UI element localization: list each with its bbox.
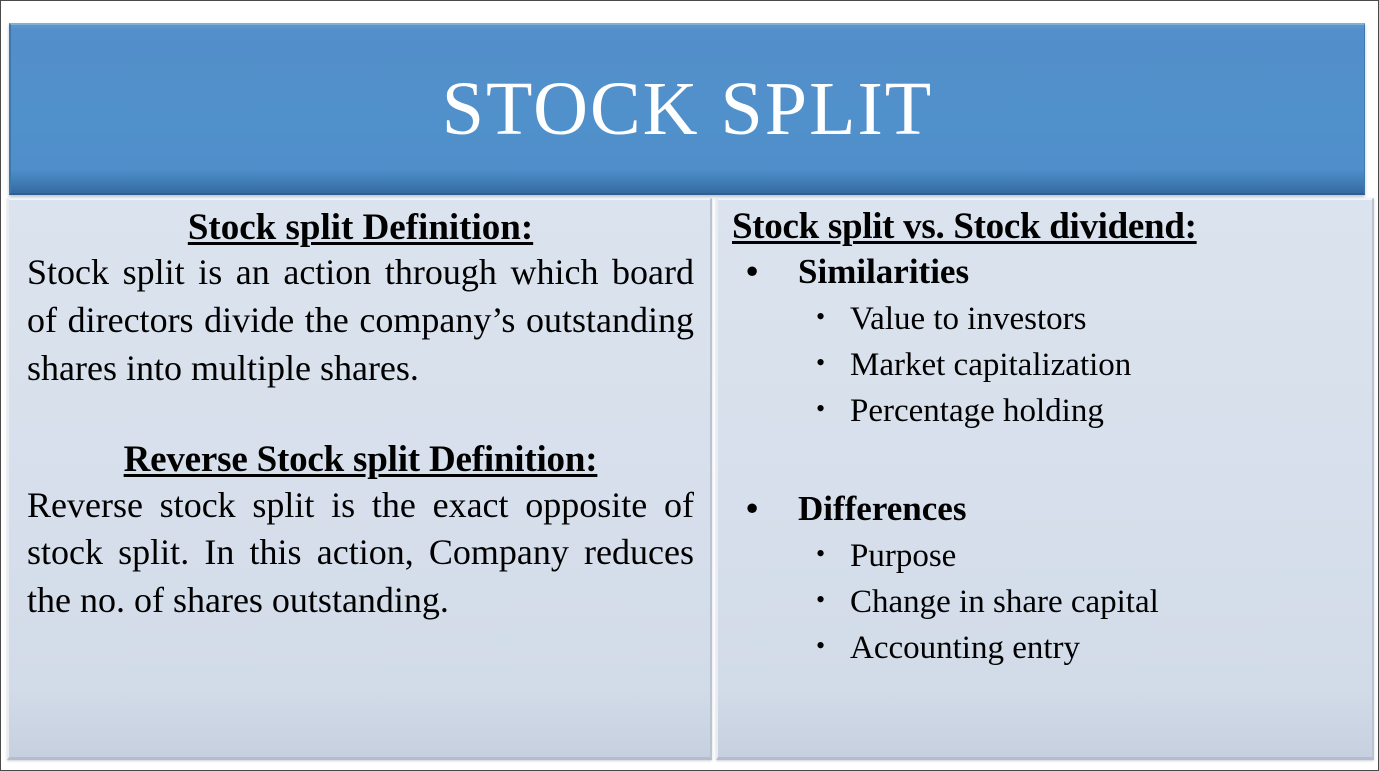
list-item-label: Percentage holding [850,393,1104,429]
bullet-icon: • [816,296,825,338]
slide-header-banner: STOCK SPLIT [9,23,1365,195]
differences-label: Differences [798,489,966,528]
left-content-panel: Stock split Definition: Stock split is a… [7,198,712,760]
right-group-spacer [726,434,1364,486]
bullet-icon: • [816,625,825,667]
list-item-similarities: • Similarities • Value to investors • Ma… [726,251,1364,434]
bullet-icon: • [816,388,825,430]
stock-split-definition-heading: Stock split Definition: [27,209,694,247]
list-item-label: Purpose [850,538,956,574]
similarities-sublist: • Value to investors • Market capitaliza… [798,296,1364,435]
list-item-differences: • Differences • Purpose • Change in shar… [726,488,1364,671]
comparison-list: • Similarities • Value to investors • Ma… [726,251,1364,672]
list-item-label: Value to investors [850,301,1086,337]
page-title: STOCK SPLIT [442,71,933,147]
list-item: • Purpose [798,533,1364,579]
left-section-spacer [27,393,694,441]
list-item: • Change in share capital [798,579,1364,625]
bullet-icon: • [816,579,825,621]
reverse-stock-split-definition-heading: Reverse Stock split Definition: [27,441,694,479]
slide-canvas: STOCK SPLIT Stock split Definition: Stoc… [0,0,1379,771]
bullet-icon: • [746,488,758,531]
bullet-icon: • [816,533,825,575]
similarities-label: Similarities [798,252,969,291]
list-item-label: Accounting entry [850,630,1080,666]
stock-split-definition-text: Stock split is an action through which b… [27,249,694,393]
right-content-panel: Stock split vs. Stock dividend: • Simila… [716,198,1374,760]
list-item: • Value to investors [798,296,1364,342]
bullet-icon: • [746,251,758,294]
list-item: • Percentage holding [798,388,1364,434]
reverse-stock-split-definition-text: Reverse stock split is the exact opposit… [27,482,694,626]
stock-split-vs-stock-dividend-heading: Stock split vs. Stock dividend: [732,208,1364,247]
differences-sublist: • Purpose • Change in share capital • Ac… [798,533,1364,672]
list-item-label: Market capitalization [850,347,1131,383]
bullet-icon: • [816,342,825,384]
list-item: • Market capitalization [798,342,1364,388]
list-item: • Accounting entry [798,625,1364,671]
slide-content-area: Stock split Definition: Stock split is a… [7,198,1374,760]
list-item-label: Change in share capital [850,584,1159,620]
